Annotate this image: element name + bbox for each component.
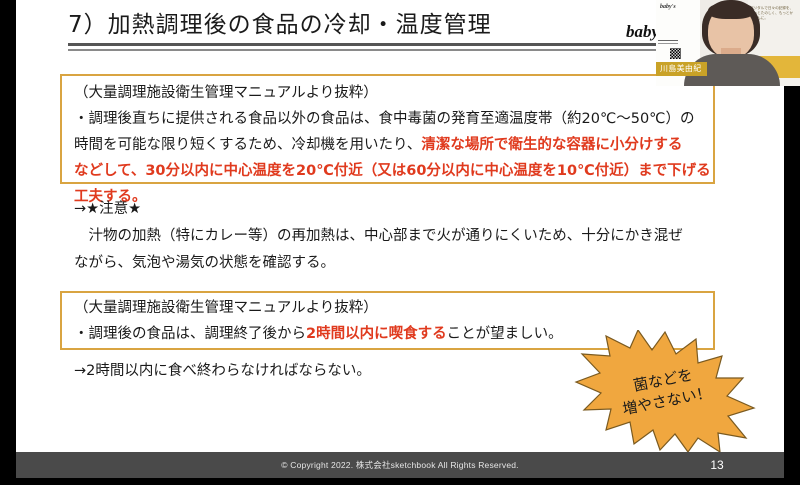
text-run: 清潔な場所で衛生的な容器に小分けする [421,137,682,153]
starburst-shape [572,330,758,452]
box1-line-1: （大量調理施設衛生管理マニュアルより抜粋） [74,80,711,106]
text-run: →2時間以内に食べ終わらなければならない。 [74,363,371,379]
page-number: 13 [698,452,736,478]
text-run: ことが望ましい。 [447,326,563,342]
box1-line-4: などして、30分以内に中心温度を20℃付近（又は60分以内に中心温度を10℃付近… [74,158,711,184]
box1-line-2: ・調理後直ちに提供される食品以外の食品は、食中毒菌の発育至適温度帯（約20℃～5… [74,106,711,132]
screen-capture: 7）加熱調理後の食品の冷却・温度管理 baby's ♩ （大量調理施設衛生管理マ… [0,0,800,485]
caution-note-block: →★注意★ 汁物の加熱（特にカレー等）の再加熱は、中心部まで火が通りにくいため、… [74,196,714,277]
slide-footer: © Copyright 2022. 株式会社sketchbook All Rig… [16,452,784,478]
speaker-video-panel[interactable]: baby's デジタルで日々の記録を、もっとたのしく、もっとかんたんに。 川島美… [656,0,800,86]
text-run: （大量調理施設衛生管理マニュアルより抜粋） [74,300,378,316]
video-mini-rule [658,40,678,41]
text-run: 2時間以内に喫食する [306,326,447,342]
page-title: 7）加熱調理後の食品の冷却・温度管理 [68,8,492,42]
box2-text-block: （大量調理施設衛生管理マニュアルより抜粋）・調理後の食品は、調理終了後から2時間… [74,295,563,347]
note-line-2: 汁物の加熱（特にカレー等）の再加熱は、中心部まで火が通りにくいため、十分にかき混… [74,223,714,250]
box2-line-1: （大量調理施設衛生管理マニュアルより抜粋） [74,295,563,321]
title-rule-thick [68,43,714,46]
box1-text-block: （大量調理施設衛生管理マニュアルより抜粋）・調理後直ちに提供される食品以外の食品… [74,80,711,210]
text-run: 汁物の加熱（特にカレー等）の再加熱は、中心部まで火が通りにくいため、十分にかき混… [74,228,683,244]
video-mini-logo: baby's [660,4,676,10]
box2-line-2: ・調理後の食品は、調理終了後から2時間以内に喫食することが望ましい。 [74,321,563,347]
copyright-text: © Copyright 2022. 株式会社sketchbook All Rig… [281,459,519,471]
manual-excerpt-box-cooling: （大量調理施設衛生管理マニュアルより抜粋）・調理後直ちに提供される食品以外の食品… [60,74,715,184]
starburst-callout: 菌などを 増やさない！ [572,330,758,452]
text-run: ・調理後の食品は、調理終了後から [74,326,306,342]
title-rule-thin [68,49,714,51]
text-run: （大量調理施設衛生管理マニュアルより抜粋） [74,85,378,101]
text-run: などして、30分以内に中心温度を20℃付近（又は60分以内に中心温度を10℃付近… [74,163,711,179]
box1-line-3: 時間を可能な限り短くするため、冷却機を用いたり、清潔な場所で衛生的な容器に小分け… [74,132,711,158]
video-qr-code-icon [670,48,681,59]
speaker-name-label: 川島美由紀 [656,62,707,76]
text-run: ・調理後直ちに提供される食品以外の食品は、食中毒菌の発育至適温度帯（約20℃～5… [74,111,694,127]
text-run: ながら、気泡や湯気の状態を確認する。 [74,255,335,271]
text-run: →★注意★ [74,201,141,217]
note-line-1: →★注意★ [74,196,714,223]
text-run: 時間を可能な限り短くするため、冷却機を用いたり、 [74,137,421,153]
speaker-hair-front [708,2,754,19]
note-line-3: ながら、気泡や湯気の状態を確認する。 [74,250,714,277]
